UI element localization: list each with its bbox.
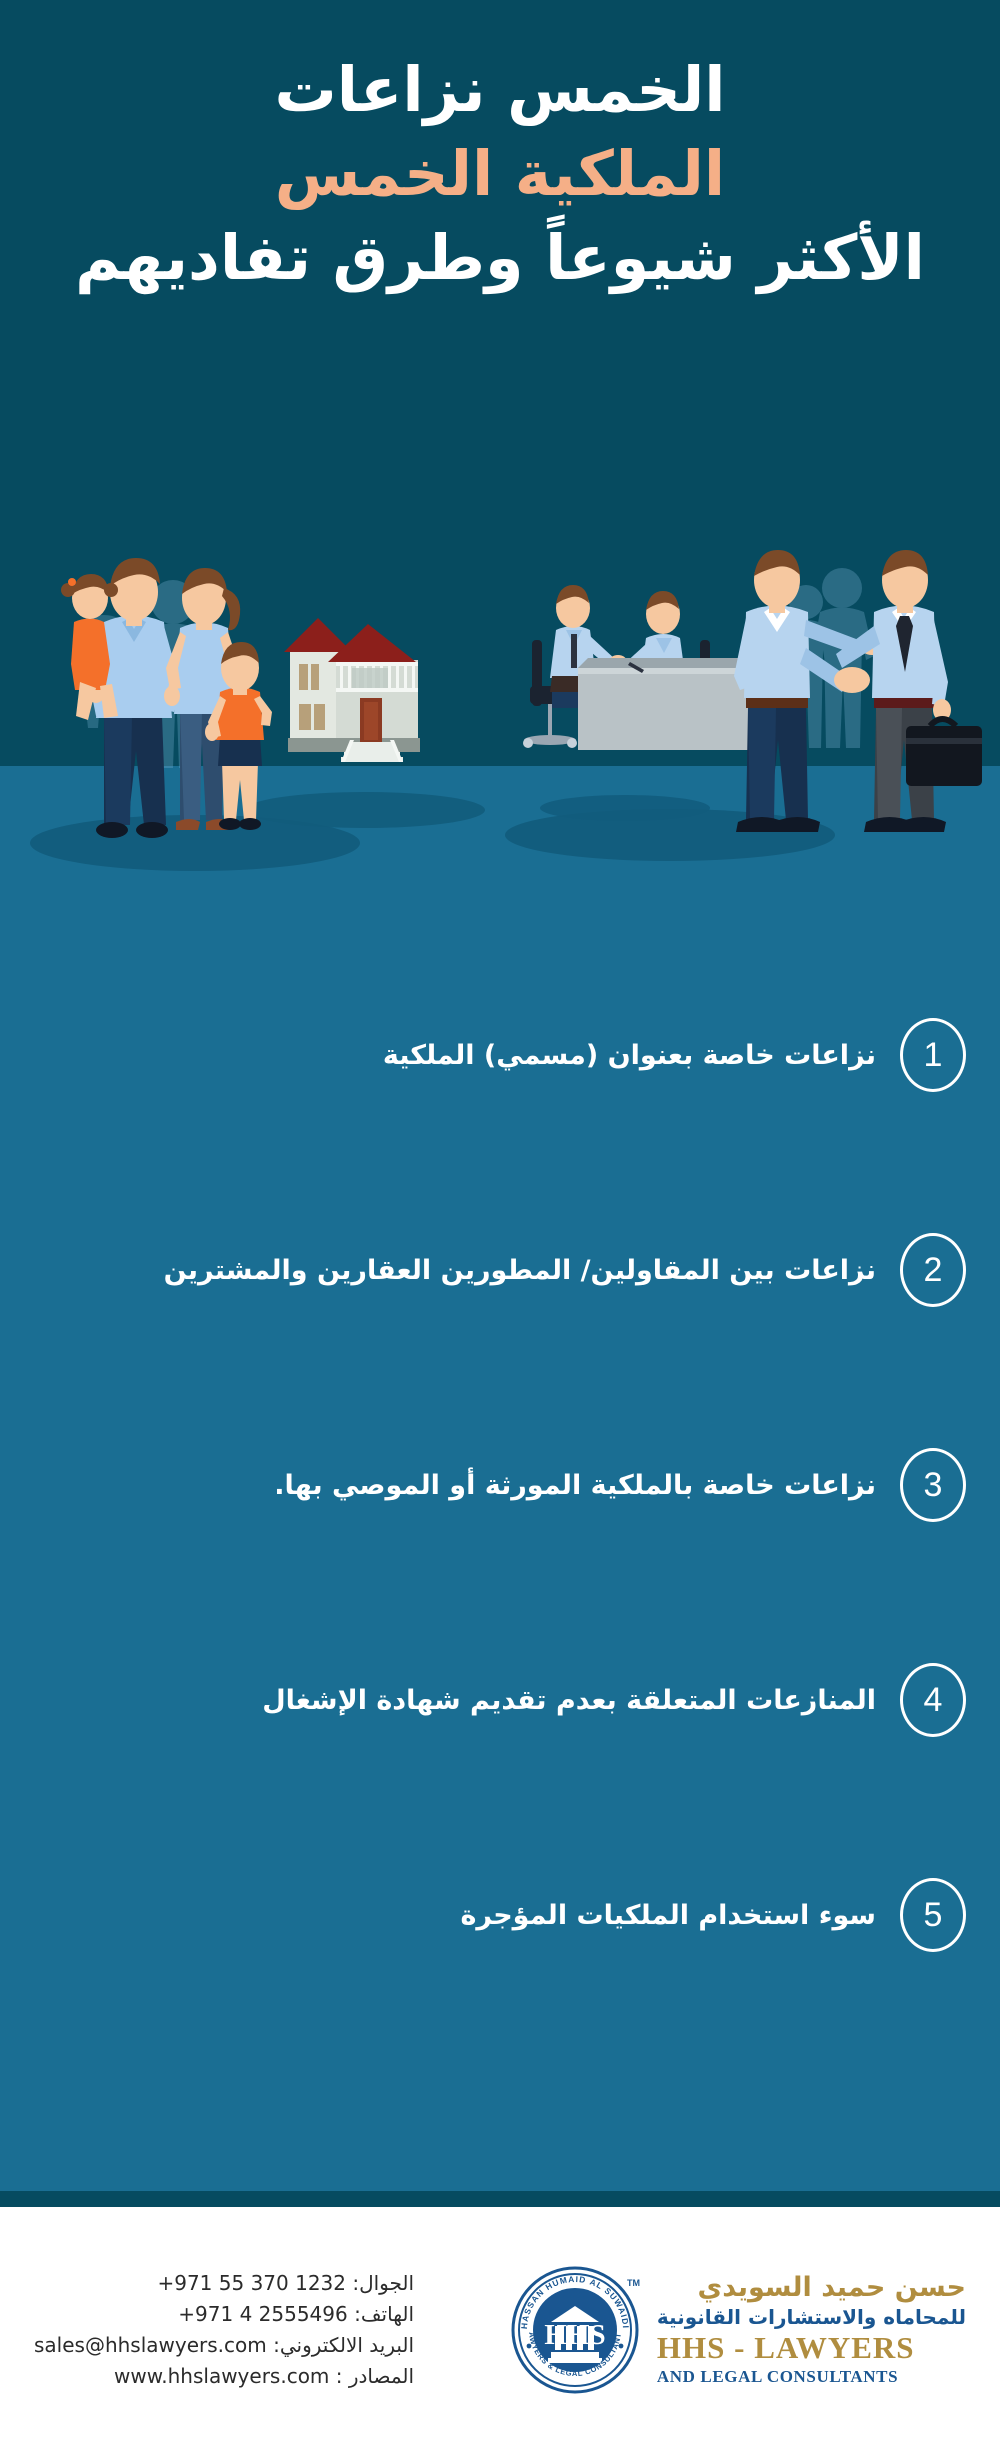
list-item-number: 1 [900, 1018, 966, 1092]
list-item: 3 نزاعات خاصة بالملكية المورثة أو الموصي… [0, 1415, 1000, 1555]
contact-info: الجوال: +971 55 370 1232 الهاتف: +971 4 … [34, 2268, 414, 2392]
contact-mobile: الجوال: +971 55 370 1232 [34, 2268, 414, 2299]
list-item: 2 نزاعات بين المقاولين/ المطورين العقاري… [0, 1200, 1000, 1340]
title-line-1: الخمس نزاعات [0, 48, 1000, 132]
brand-arabic-subtitle: للمحاماه والاستشارات القانونية [657, 2304, 966, 2330]
contact-website[interactable]: المصادر : www.hhslawyers.com [34, 2361, 414, 2392]
hhs-seal-logo: HHS HASSAN HUMAID AL SUWAIDI LAWYERS & L… [509, 2264, 641, 2396]
contact-mobile-value: +971 55 370 1232 [157, 2271, 346, 2295]
footer-divider-band [0, 2191, 1000, 2207]
list-item-label: نزاعات خاصة بعنوان (مسمي) الملكية [0, 1034, 876, 1077]
list-item-number: 5 [900, 1878, 966, 1952]
contact-email[interactable]: البريد الالكتروني: sales@hhslawyers.com [34, 2330, 414, 2361]
list-item-label: سوء استخدام الملكيات المؤجرة [0, 1894, 876, 1937]
hero-illustration [0, 540, 1000, 920]
contact-email-label: البريد الالكتروني: [273, 2333, 414, 2357]
infographic-poster: الخمس نزاعات الملكية الخمس الأكثر شيوعاً… [0, 0, 1000, 2453]
trademark-symbol: TM [627, 2278, 640, 2288]
list-item-number: 3 [900, 1448, 966, 1522]
list-item-label: نزاعات بين المقاولين/ المطورين العقارين … [0, 1249, 876, 1292]
list-item: 4 المنازعات المتعلقة بعدم تقديم شهادة ال… [0, 1630, 1000, 1770]
contact-phone: الهاتف: +971 4 2555496 [34, 2299, 414, 2330]
brand-english-name: HHS - LAWYERS [657, 2330, 966, 2366]
contact-website-value[interactable]: www.hhslawyers.com [114, 2364, 329, 2388]
brand-english-subtitle: AND LEGAL CONSULTANTS [657, 2366, 966, 2388]
list-item-number: 2 [900, 1233, 966, 1307]
list-item-number: 4 [900, 1663, 966, 1737]
contact-phone-label: الهاتف: [354, 2302, 414, 2326]
contact-website-label: المصادر : [336, 2364, 414, 2388]
disputes-list: 1 نزاعات خاصة بعنوان (مسمي) الملكية 2 نز… [0, 985, 1000, 2165]
title-line-2: الملكية الخمس [0, 132, 1000, 216]
contact-phone-value: +971 4 2555496 [178, 2302, 347, 2326]
list-item-label: المنازعات المتعلقة بعدم تقديم شهادة الإش… [0, 1679, 876, 1722]
list-item: 5 سوء استخدام الملكيات المؤجرة [0, 1845, 1000, 1985]
list-item: 1 نزاعات خاصة بعنوان (مسمي) الملكية [0, 985, 1000, 1125]
page-title: الخمس نزاعات الملكية الخمس الأكثر شيوعاً… [0, 48, 1000, 300]
seal-initials: HHS [544, 2319, 605, 2351]
brand-arabic-name: حسن حميد السويدي [657, 2272, 966, 2304]
contact-mobile-label: الجوال: [352, 2271, 414, 2295]
brand-text-lockup: حسن حميد السويدي للمحاماه والاستشارات ال… [657, 2272, 966, 2388]
contact-email-value[interactable]: sales@hhslawyers.com [34, 2333, 267, 2357]
title-line-3: الأكثر شيوعاً وطرق تفاديهم [0, 216, 1000, 300]
footer: الجوال: +971 55 370 1232 الهاتف: +971 4 … [0, 2207, 1000, 2453]
list-item-label: نزاعات خاصة بالملكية المورثة أو الموصي ب… [0, 1464, 876, 1507]
brand-lockup: HHS HASSAN HUMAID AL SUWAIDI LAWYERS & L… [509, 2264, 966, 2396]
